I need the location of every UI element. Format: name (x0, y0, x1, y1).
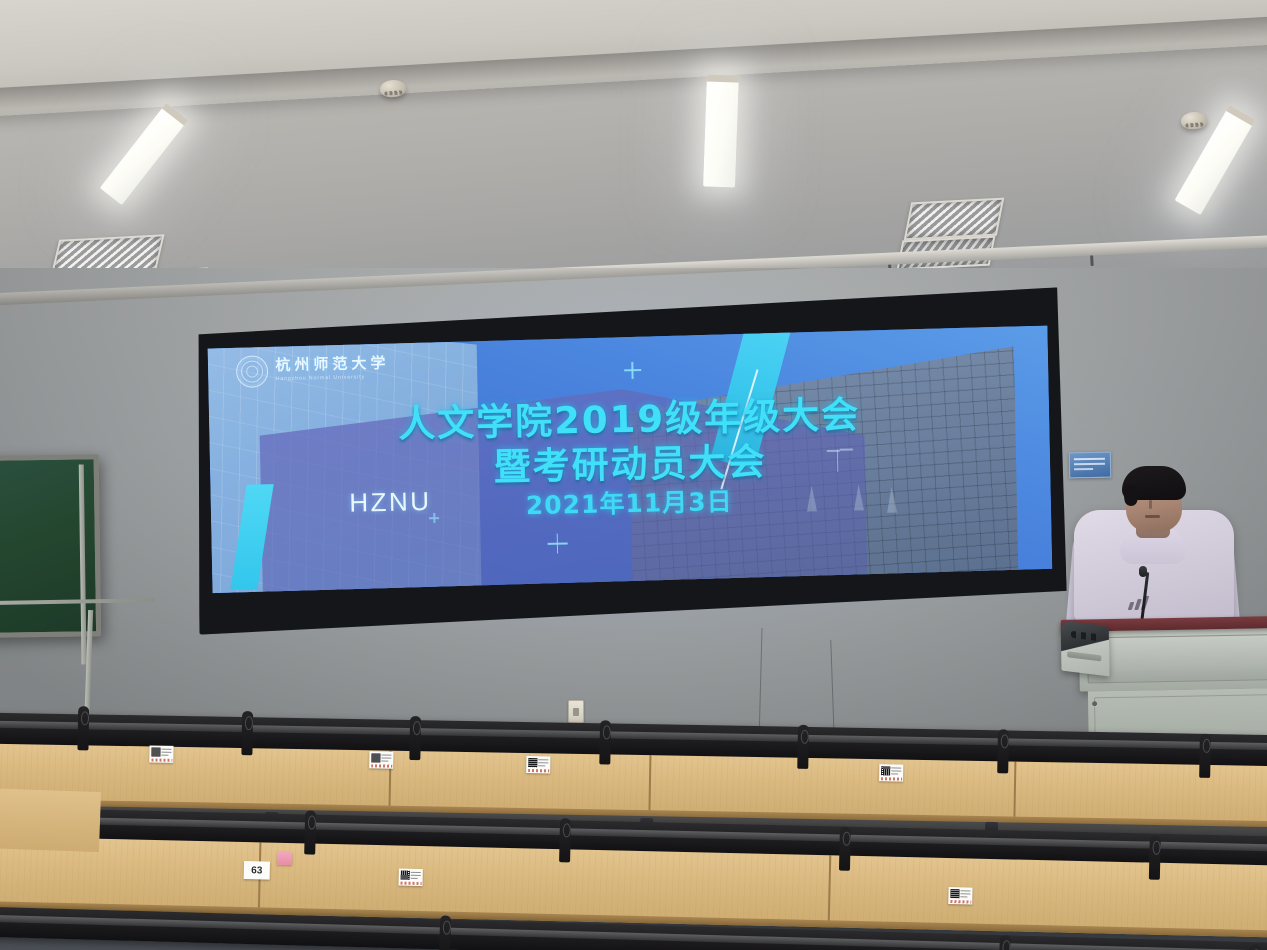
bench-divider (997, 729, 1009, 773)
bench-divider (1149, 836, 1161, 880)
presenter-nose (1149, 500, 1152, 509)
desk-seam (648, 755, 651, 817)
qr-code-sticker (369, 751, 393, 768)
qr-code-sticker (879, 764, 903, 781)
projection-screen[interactable]: 杭州师范大学 Hangzhou Normal University 人文学院20… (193, 287, 1067, 634)
hvac-vent-right-upper-icon (904, 198, 1005, 241)
bench-divider (1248, 944, 1260, 950)
chalkboard-surface (0, 454, 101, 638)
university-name-cn: 杭州师范大学 (275, 357, 389, 374)
presenter-mouth (1145, 515, 1160, 518)
bench-divider (241, 711, 253, 755)
building-spire-icon (807, 486, 818, 512)
qr-code-sticker (948, 887, 972, 905)
wall-outlet-plate[interactable] (568, 700, 584, 723)
university-seal-icon (236, 355, 269, 388)
slide-abbreviation: HZNU (349, 486, 432, 519)
bench-divider (409, 716, 421, 760)
microphone-head-icon (1139, 566, 1147, 577)
lectern-lock-screw (1092, 701, 1097, 706)
hoodie-brand-logo-icon (1129, 596, 1151, 610)
bench-divider (599, 720, 611, 764)
desk-seam (1013, 762, 1016, 824)
bench-divider (1199, 734, 1211, 778)
presenter-hair (1122, 466, 1186, 500)
lectern-front-panel (1087, 634, 1267, 683)
bench-divider (797, 725, 809, 769)
qr-code-sticker (398, 869, 422, 887)
sticky-note (277, 852, 292, 865)
building-spire-icon (853, 485, 864, 511)
building-spire-icon (887, 487, 898, 513)
presenter (1074, 470, 1244, 635)
smoke-detector-left-icon (379, 79, 406, 98)
slide-date: 2021年11月3日 (525, 482, 732, 522)
seat-number-label: 63 (244, 861, 270, 880)
crosshair-decoration-icon (624, 361, 641, 378)
university-logo: 杭州师范大学 Hangzhou Normal University (236, 353, 390, 388)
fluorescent-tube-center-icon (703, 74, 739, 187)
bench-divider (439, 915, 451, 950)
university-logo-text: 杭州师范大学 Hangzhou Normal University (275, 357, 389, 382)
qr-code-sticker (526, 756, 550, 773)
desk-surface-partial (0, 788, 101, 852)
slide-title: 人文学院2019级年级大会 暨考研动员大会 (209, 388, 1051, 495)
bench-divider (999, 935, 1011, 950)
projected-slide: 杭州师范大学 Hangzhou Normal University 人文学院20… (207, 326, 1052, 594)
bench-divider (304, 810, 316, 854)
lectern-control-panel[interactable] (1061, 621, 1110, 677)
control-panel-drawer[interactable] (1067, 651, 1101, 661)
crosshair-decoration-icon (547, 533, 567, 553)
fluorescent-tube-left-icon (100, 103, 189, 205)
bench-divider (77, 706, 89, 750)
slide-canvas: 杭州师范大学 Hangzhou Normal University 人文学院20… (207, 326, 1052, 594)
qr-code-sticker (149, 745, 173, 762)
control-panel-buttons-icon[interactable] (1071, 631, 1099, 641)
green-chalkboard (0, 454, 151, 657)
bench-divider (559, 818, 571, 862)
university-name-en: Hangzhou Normal University (276, 375, 390, 382)
desk-seam (828, 855, 832, 927)
lecture-hall-photo: 杭州师范大学 Hangzhou Normal University 人文学院20… (0, 0, 1267, 950)
bench-divider (839, 827, 851, 871)
smoke-detector-right-icon (1180, 111, 1207, 130)
